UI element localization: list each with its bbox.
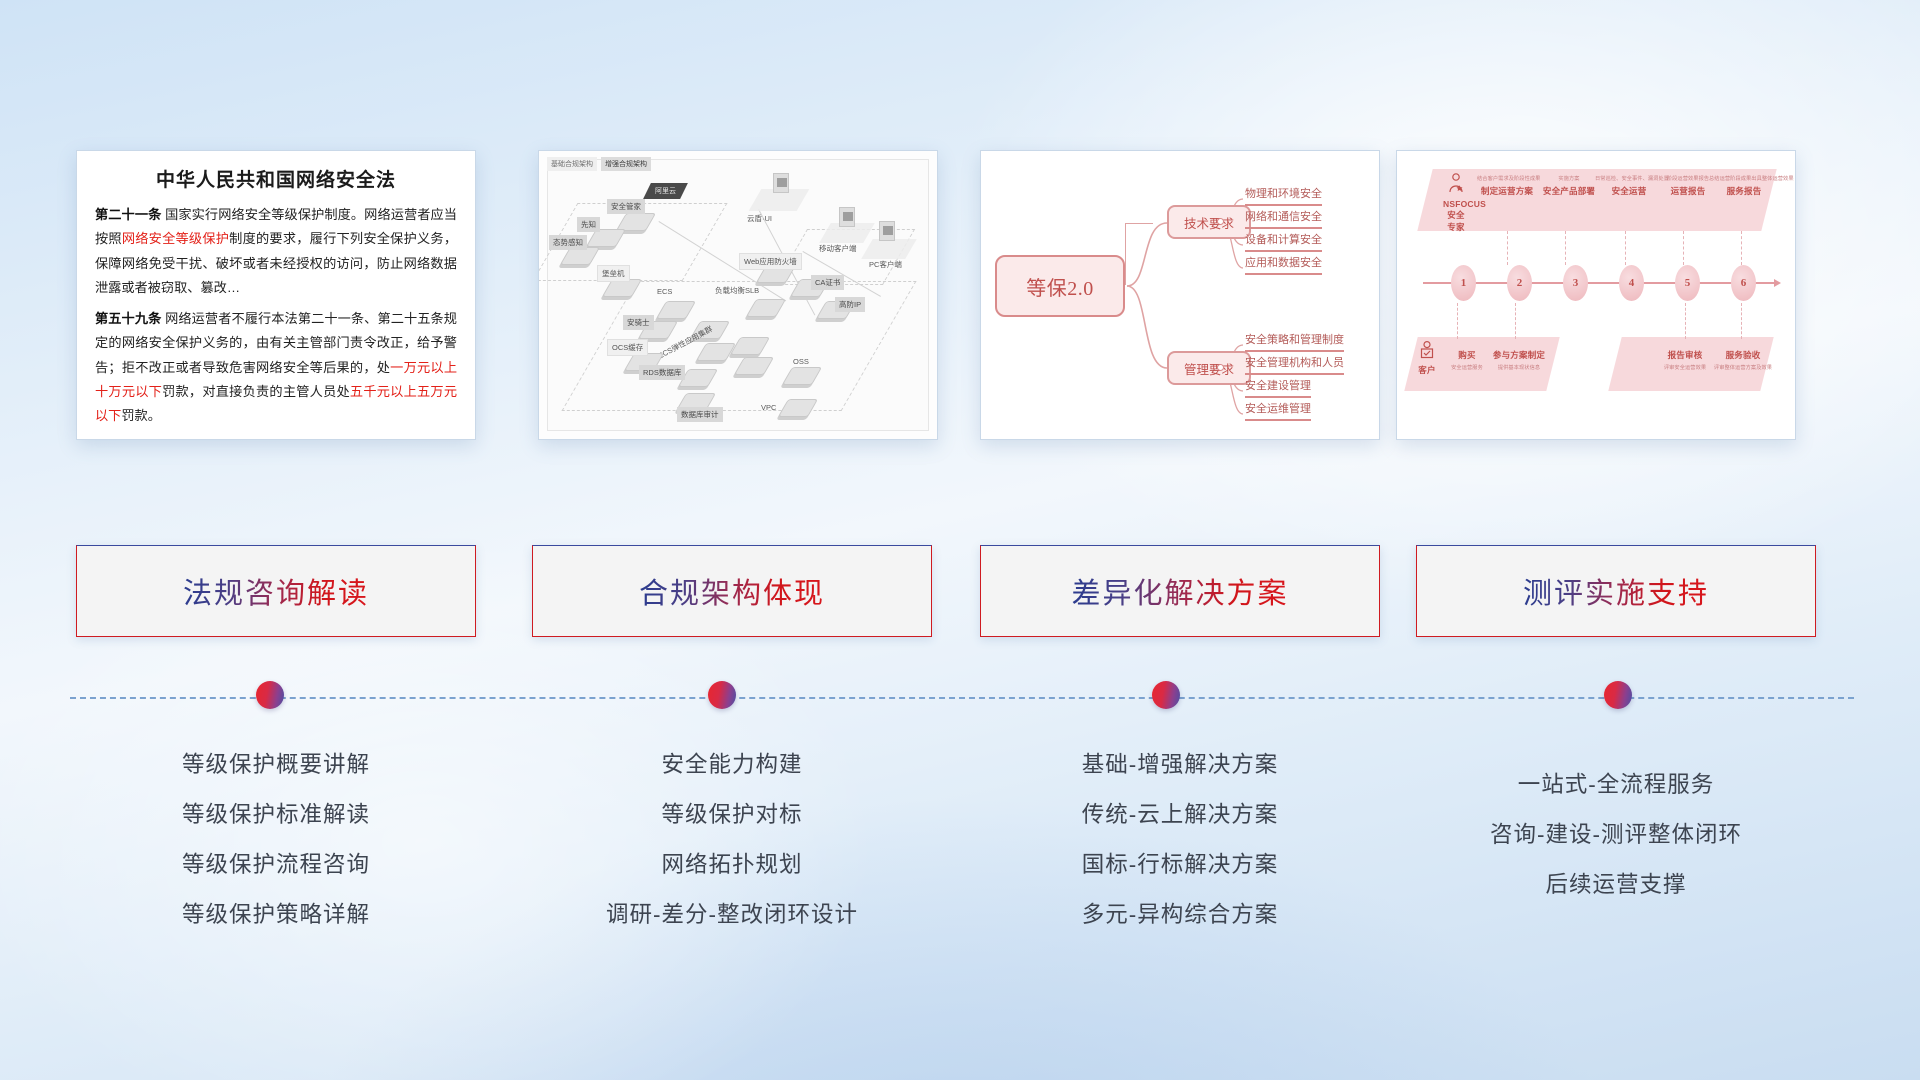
section-header-row: 法规咨询解读 合规架构体现 差异化解决方案 测评实施支持 bbox=[0, 545, 1920, 641]
mindmap-leaf-app-data: 应用和数据安全 bbox=[1245, 254, 1322, 275]
list-item: 咨询-建设-测评整体闭环 bbox=[1416, 810, 1816, 860]
process-top-title-5: 服务报告 bbox=[1709, 185, 1779, 197]
mindmap-leaf-physical-env: 物理和环境安全 bbox=[1245, 185, 1322, 206]
header-banner-3[interactable]: 差异化解决方案 bbox=[980, 545, 1380, 637]
law-title: 中华人民共和国网络安全法 bbox=[95, 165, 457, 192]
process-top-item-2: 实施方案 安全产品部署 bbox=[1537, 175, 1601, 197]
mindmap-leaf-network-comm: 网络和通信安全 bbox=[1245, 208, 1322, 229]
process-top-title-3: 安全运营 bbox=[1595, 185, 1663, 197]
mindmap-leaf-ops-mgmt: 安全运维管理 bbox=[1245, 400, 1311, 421]
process-bottom-sub-1: 安全运营服务 bbox=[1443, 364, 1491, 371]
list-item: 等级保护概要讲解 bbox=[76, 740, 476, 790]
mindmap: 等保2.0 技术要求 管理要求 bbox=[981, 151, 1379, 439]
node-label-ecs: ECS bbox=[657, 287, 672, 296]
process-bottom-item-3: 报告审核 评审安全运营效果 bbox=[1655, 349, 1715, 371]
node-label-waf: Web应用防火墙 bbox=[739, 253, 802, 270]
list-item: 网络拓扑规划 bbox=[532, 840, 932, 890]
process-step-3[interactable]: 3 bbox=[1563, 265, 1588, 301]
expert-role: 安全专家 bbox=[1443, 209, 1469, 233]
card-nsfocus-process[interactable]: NSFOCUS 安全专家 结合客户需求及阶段性成果 制定运营方案 实施方案 安全… bbox=[1396, 150, 1796, 440]
law-document: 中华人民共和国网络安全法 第二十一条 国家实行网络安全等级保护制度。网络运营者应… bbox=[77, 151, 475, 439]
person-check-icon bbox=[1419, 341, 1435, 359]
timeline bbox=[0, 693, 1920, 703]
list-item: 安全能力构建 bbox=[532, 740, 932, 790]
header-banner-4[interactable]: 测评实施支持 bbox=[1416, 545, 1816, 637]
expert-brand: NSFOCUS bbox=[1443, 199, 1469, 209]
bullet-columns: 等级保护概要讲解 等级保护标准解读 等级保护流程咨询 等级保护策略详解 安全能力… bbox=[0, 740, 1920, 970]
list-item: 国标-行标解决方案 bbox=[980, 840, 1380, 890]
person-star-icon bbox=[1447, 173, 1465, 193]
node-label-xianzhi: 先知 bbox=[577, 217, 600, 232]
node-label-cloud-ui: 云盾·UI bbox=[747, 213, 772, 224]
timeline-dot-4[interactable] bbox=[1604, 681, 1632, 709]
mindmap-leaf-device-compute: 设备和计算安全 bbox=[1245, 231, 1322, 252]
process-step-4[interactable]: 4 bbox=[1619, 265, 1644, 301]
node-label-pc-client: PC客户端 bbox=[869, 259, 902, 270]
article-59-text-3: 罚款。 bbox=[121, 408, 161, 423]
node-label-db-audit: 数据库审计 bbox=[677, 407, 723, 422]
monitor-icon bbox=[773, 173, 789, 193]
mindmap-leaf-policy-system: 安全策略和管理制度 bbox=[1245, 331, 1344, 352]
bullet-column-4: 一站式-全流程服务 咨询-建设-测评整体闭环 后续运营支撑 bbox=[1416, 760, 1816, 910]
list-item: 等级保护流程咨询 bbox=[76, 840, 476, 890]
preview-card-row: 中华人民共和国网络安全法 第二十一条 国家实行网络安全等级保护制度。网络运营者应… bbox=[0, 150, 1920, 446]
node-label-slb: 负载均衡SLB bbox=[715, 285, 759, 296]
list-item: 多元-异构综合方案 bbox=[980, 890, 1380, 940]
process-diagram: NSFOCUS 安全专家 结合客户需求及阶段性成果 制定运营方案 实施方案 安全… bbox=[1397, 151, 1795, 439]
process-bottom-sub-3: 评审安全运营效果 bbox=[1655, 364, 1715, 371]
process-bottom-title-4: 服务验收 bbox=[1713, 349, 1773, 361]
card-dengbao-mindmap[interactable]: 等保2.0 技术要求 管理要求 bbox=[980, 150, 1380, 440]
process-step-1[interactable]: 1 bbox=[1451, 265, 1476, 301]
process-bottom-item-2: 参与方案制定 提供基本现状信息 bbox=[1489, 349, 1549, 371]
customer-role: 客户 bbox=[1413, 364, 1441, 376]
card-cybersecurity-law[interactable]: 中华人民共和国网络安全法 第二十一条 国家实行网络安全等级保护制度。网络运营者应… bbox=[76, 150, 476, 440]
timeline-dot-3[interactable] bbox=[1152, 681, 1180, 709]
timeline-dashed-line bbox=[70, 697, 1854, 699]
mindmap-leaf-org-personnel: 安全管理机构和人员 bbox=[1245, 354, 1344, 375]
tab-basic-architecture[interactable]: 基础合规架构 bbox=[547, 157, 597, 171]
mindmap-leaf-construction-mgmt: 安全建设管理 bbox=[1245, 377, 1311, 398]
bullet-column-1: 等级保护概要讲解 等级保护标准解读 等级保护流程咨询 等级保护策略详解 bbox=[76, 740, 476, 940]
node-label-ca-certificate: CA证书 bbox=[811, 275, 844, 290]
leader-line bbox=[1683, 231, 1684, 265]
bullet-column-2: 安全能力构建 等级保护对标 网络拓扑规划 调研-差分-整改闭环设计 bbox=[532, 740, 932, 940]
mindmap-collapse-dot[interactable] bbox=[1217, 218, 1224, 225]
list-item: 后续运营支撑 bbox=[1416, 860, 1816, 910]
leader-line bbox=[1741, 231, 1742, 265]
header-banner-3-label: 差异化解决方案 bbox=[1071, 570, 1288, 612]
tab-enhanced-architecture[interactable]: 增强合规架构 bbox=[601, 157, 651, 171]
node-label-mobile-client: 移动客户端 bbox=[819, 243, 857, 254]
process-bottom-sub-2: 提供基本现状信息 bbox=[1489, 364, 1549, 371]
node-label-rds: RDS数据库 bbox=[639, 365, 685, 380]
node-label-bastion-host: 堡垒机 bbox=[597, 265, 630, 282]
list-item: 基础-增强解决方案 bbox=[980, 740, 1380, 790]
mindmap-branch-technical: 技术要求 bbox=[1167, 205, 1251, 239]
process-bottom-item-1: 购买 安全运营服务 bbox=[1443, 349, 1491, 371]
process-top-item-3: 日常巡检、安全事件、漏洞处置 安全运营 bbox=[1595, 175, 1663, 197]
process-top-sub-2: 实施方案 bbox=[1537, 175, 1601, 182]
leader-line bbox=[1457, 303, 1458, 339]
list-item: 等级保护对标 bbox=[532, 790, 932, 840]
list-item: 传统-云上解决方案 bbox=[980, 790, 1380, 840]
monitor-icon bbox=[839, 207, 855, 227]
slide-canvas: 中华人民共和国网络安全法 第二十一条 国家实行网络安全等级保护制度。网络运营者应… bbox=[0, 0, 1920, 1080]
law-article-21: 第二十一条 国家实行网络安全等级保护制度。网络运营者应当按照网络安全等级保护制度… bbox=[95, 203, 457, 300]
header-banner-1[interactable]: 法规咨询解读 bbox=[76, 545, 476, 637]
node-label-anqishi: 安骑士 bbox=[623, 315, 654, 330]
article-21-label: 第二十一条 bbox=[95, 207, 161, 222]
article-21-highlight: 网络安全等级保护 bbox=[122, 231, 229, 246]
process-step-5[interactable]: 5 bbox=[1675, 265, 1700, 301]
expert-persona: NSFOCUS 安全专家 bbox=[1443, 173, 1469, 233]
header-banner-2[interactable]: 合规架构体现 bbox=[532, 545, 932, 637]
leader-line bbox=[1741, 303, 1742, 339]
timeline-dot-1[interactable] bbox=[256, 681, 284, 709]
header-banner-4-label: 测评实施支持 bbox=[1523, 570, 1709, 612]
node-label-oss: OSS bbox=[793, 357, 809, 366]
process-bottom-sub-4: 评审整体运营方案及效果 bbox=[1713, 364, 1773, 371]
process-step-2[interactable]: 2 bbox=[1507, 265, 1532, 301]
process-top-title-1: 制定运营方案 bbox=[1477, 185, 1537, 197]
leader-line bbox=[1685, 303, 1686, 339]
process-top-title-2: 安全产品部署 bbox=[1537, 185, 1601, 197]
list-item: 一站式-全流程服务 bbox=[1416, 760, 1816, 810]
article-59-text-2: 罚款，对直接负责的主管人员处 bbox=[162, 384, 350, 399]
header-banner-2-label: 合规架构体现 bbox=[639, 570, 825, 612]
bullet-column-3: 基础-增强解决方案 传统-云上解决方案 国标-行标解决方案 多元-异构综合方案 bbox=[980, 740, 1380, 940]
article-59-label: 第五十九条 bbox=[95, 311, 161, 326]
list-item: 调研-差分-整改闭环设计 bbox=[532, 890, 932, 940]
architecture-diagram: 基础合规架构 增强合规架构 阿里云 云盾·UI bbox=[539, 151, 937, 439]
node-label-security-butler: 安全管家 bbox=[607, 199, 645, 214]
leader-line bbox=[1515, 303, 1516, 339]
process-bottom-item-4: 服务验收 评审整体运营方案及效果 bbox=[1713, 349, 1773, 371]
process-top-item-1: 结合客户需求及阶段性成果 制定运营方案 bbox=[1477, 175, 1537, 197]
process-bottom-title-3: 报告审核 bbox=[1655, 349, 1715, 361]
cloud-platform-badge: 阿里云 bbox=[643, 183, 688, 199]
law-article-59: 第五十九条 网络运营者不履行本法第二十一条、第二十五条规定的网络安全保护义务的，… bbox=[95, 307, 457, 428]
customer-persona: 客户 bbox=[1413, 341, 1441, 376]
mindmap-collapse-dot[interactable] bbox=[1217, 364, 1224, 371]
process-bottom-title-2: 参与方案制定 bbox=[1489, 349, 1549, 361]
node-label-ocs-cache: OCS缓存 bbox=[607, 339, 648, 356]
node-label-vpc: VPC bbox=[761, 403, 776, 412]
monitor-icon bbox=[879, 221, 895, 241]
process-bottom-title-1: 购买 bbox=[1443, 349, 1491, 361]
leader-line bbox=[1565, 231, 1566, 265]
list-item: 等级保护策略详解 bbox=[76, 890, 476, 940]
process-top-sub-5: 总结运营阶段成果出具整体运营效果 bbox=[1709, 175, 1779, 182]
header-banner-1-label: 法规咨询解读 bbox=[183, 570, 369, 612]
timeline-dot-2[interactable] bbox=[708, 681, 736, 709]
list-item: 等级保护标准解读 bbox=[76, 790, 476, 840]
card-cloud-architecture[interactable]: 基础合规架构 增强合规架构 阿里云 云盾·UI bbox=[538, 150, 938, 440]
mindmap-branch-management: 管理要求 bbox=[1167, 351, 1251, 385]
leader-line bbox=[1507, 231, 1508, 265]
mindmap-root-node: 等保2.0 bbox=[995, 255, 1125, 317]
node-label-situational-awareness: 态势感知 bbox=[549, 235, 587, 250]
process-top-item-5: 总结运营阶段成果出具整体运营效果 服务报告 bbox=[1709, 175, 1779, 197]
node-label-anti-ddos-ip: 高防IP bbox=[835, 297, 865, 312]
process-step-6[interactable]: 6 bbox=[1731, 265, 1756, 301]
leader-line bbox=[1625, 231, 1626, 265]
architecture-tabs: 基础合规架构 增强合规架构 bbox=[547, 157, 651, 171]
process-top-sub-1: 结合客户需求及阶段性成果 bbox=[1477, 175, 1537, 182]
process-top-sub-3: 日常巡检、安全事件、漏洞处置 bbox=[1595, 175, 1663, 182]
